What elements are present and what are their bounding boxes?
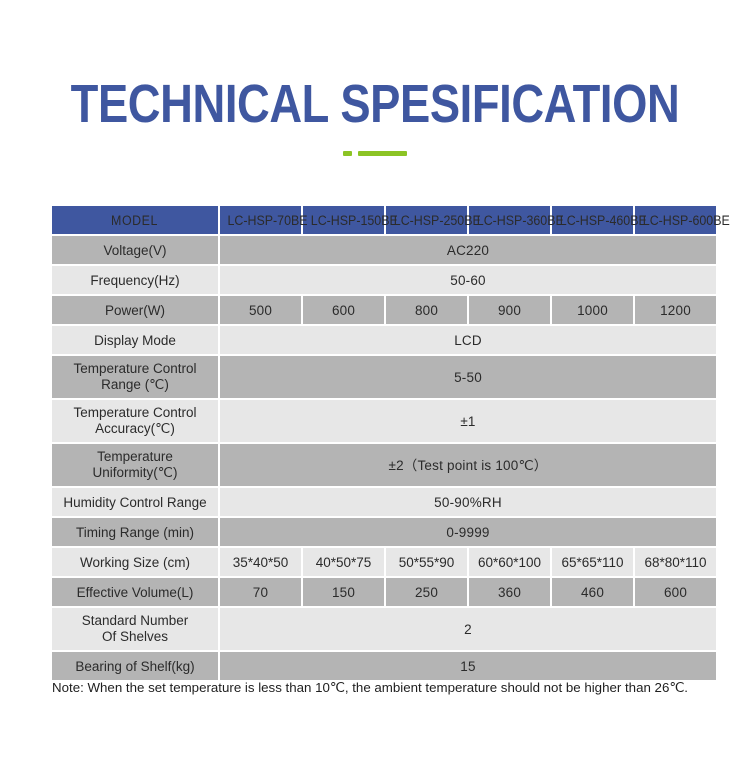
row-label: Humidity Control Range bbox=[52, 488, 218, 516]
row-value: 900 bbox=[469, 296, 550, 324]
table-row: Humidity Control Range 50-90%RH bbox=[52, 488, 716, 516]
row-value: 1200 bbox=[635, 296, 716, 324]
column-header-model-2: LC-HSP-150BE bbox=[303, 206, 384, 234]
table-row: Temperature Uniformity(℃) ±2（Test point … bbox=[52, 444, 716, 486]
row-label-line2: Range (℃) bbox=[56, 377, 214, 393]
row-label: Effective Volume(L) bbox=[52, 578, 218, 606]
row-value: 600 bbox=[303, 296, 384, 324]
title-accent-divider bbox=[0, 150, 750, 156]
row-label: Working Size (cm) bbox=[52, 548, 218, 576]
row-label-line2: Accuracy(℃) bbox=[56, 421, 214, 437]
table-row: Working Size (cm) 35*40*50 40*50*75 50*5… bbox=[52, 548, 716, 576]
row-label-line1: Temperature Control bbox=[56, 405, 214, 421]
row-value: 600 bbox=[635, 578, 716, 606]
column-header-model-5: LC-HSP-460BE bbox=[552, 206, 633, 234]
column-header-model-2-label: LC-HSP-150BE bbox=[311, 213, 398, 228]
row-value-all-models: 5-50 bbox=[220, 356, 716, 398]
row-value: 68*80*110 bbox=[635, 548, 716, 576]
table-row: Standard Number Of Shelves 2 bbox=[52, 608, 716, 650]
row-label: Power(W) bbox=[52, 296, 218, 324]
table-row: Frequency(Hz) 50-60 bbox=[52, 266, 716, 294]
table-footnote: Note: When the set temperature is less t… bbox=[52, 679, 732, 697]
row-value: 460 bbox=[552, 578, 633, 606]
row-value-all-models: 2 bbox=[220, 608, 716, 650]
row-label-line2: Uniformity(℃) bbox=[56, 465, 214, 481]
row-label: Bearing of Shelf(kg) bbox=[52, 652, 218, 680]
accent-bar-icon bbox=[358, 151, 407, 156]
table-header-row: MODEL LC-HSP-70BE LC-HSP-150BE LC-HSP-25… bbox=[52, 206, 716, 234]
column-header-model-6-label: LC-HSP-600BE bbox=[643, 213, 730, 228]
row-label: Standard Number Of Shelves bbox=[52, 608, 218, 650]
title-block: TECHNICAL SPESIFICATION bbox=[0, 0, 750, 156]
table-row: Voltage(V) AC220 bbox=[52, 236, 716, 264]
row-label: Temperature Control Accuracy(℃) bbox=[52, 400, 218, 442]
page-title: TECHNICAL SPESIFICATION bbox=[60, 74, 690, 134]
row-value: 50*55*90 bbox=[386, 548, 467, 576]
row-label-line1: Temperature Control bbox=[56, 361, 214, 377]
table-row: Display Mode LCD bbox=[52, 326, 716, 354]
row-value: 360 bbox=[469, 578, 550, 606]
row-value: 70 bbox=[220, 578, 301, 606]
column-header-model-1-label: LC-HSP-70BE bbox=[227, 213, 307, 228]
row-value-all-models: 50-60 bbox=[220, 266, 716, 294]
column-header-model-4-label: LC-HSP-360BE bbox=[477, 213, 564, 228]
row-value-all-models: ±2（Test point is 100℃） bbox=[220, 444, 716, 486]
row-value: 250 bbox=[386, 578, 467, 606]
row-label: Frequency(Hz) bbox=[52, 266, 218, 294]
row-label: Display Mode bbox=[52, 326, 218, 354]
row-value-all-models: 50-90%RH bbox=[220, 488, 716, 516]
column-header-model-label: MODEL bbox=[112, 213, 159, 228]
row-value: 150 bbox=[303, 578, 384, 606]
table-header: MODEL LC-HSP-70BE LC-HSP-150BE LC-HSP-25… bbox=[52, 206, 716, 234]
row-value: 60*60*100 bbox=[469, 548, 550, 576]
column-header-model-4: LC-HSP-360BE bbox=[469, 206, 550, 234]
row-value-all-models: ±1 bbox=[220, 400, 716, 442]
column-header-model-6: LC-HSP-600BE bbox=[635, 206, 716, 234]
table-row: Bearing of Shelf(kg) 15 bbox=[52, 652, 716, 680]
row-value-all-models: 0-9999 bbox=[220, 518, 716, 546]
accent-dot-icon bbox=[343, 151, 352, 156]
row-label: Temperature Uniformity(℃) bbox=[52, 444, 218, 486]
row-label: Temperature Control Range (℃) bbox=[52, 356, 218, 398]
column-header-model: MODEL bbox=[52, 206, 218, 234]
column-header-model-3: LC-HSP-250BE bbox=[386, 206, 467, 234]
row-label-line1: Standard Number bbox=[56, 613, 214, 629]
table-row: Temperature Control Range (℃) 5-50 bbox=[52, 356, 716, 398]
table-row: Power(W) 500 600 800 900 1000 1200 bbox=[52, 296, 716, 324]
column-header-model-3-label: LC-HSP-250BE bbox=[394, 213, 481, 228]
row-label: Timing Range (min) bbox=[52, 518, 218, 546]
row-value-all-models: 15 bbox=[220, 652, 716, 680]
row-value-all-models: LCD bbox=[220, 326, 716, 354]
table-row: Timing Range (min) 0-9999 bbox=[52, 518, 716, 546]
row-value: 800 bbox=[386, 296, 467, 324]
row-label-line1: Temperature bbox=[56, 449, 214, 465]
specification-table: MODEL LC-HSP-70BE LC-HSP-150BE LC-HSP-25… bbox=[50, 204, 718, 682]
table-body: Voltage(V) AC220 Frequency(Hz) 50-60 Pow… bbox=[52, 236, 716, 680]
specification-table-wrapper: MODEL LC-HSP-70BE LC-HSP-150BE LC-HSP-25… bbox=[52, 206, 706, 680]
row-value-all-models: AC220 bbox=[220, 236, 716, 264]
spec-sheet-page: TECHNICAL SPESIFICATION MODEL LC-HSP-70B… bbox=[0, 0, 750, 780]
row-label-line2: Of Shelves bbox=[56, 629, 214, 645]
row-value: 40*50*75 bbox=[303, 548, 384, 576]
row-value: 65*65*110 bbox=[552, 548, 633, 576]
row-value: 500 bbox=[220, 296, 301, 324]
row-value: 35*40*50 bbox=[220, 548, 301, 576]
table-row: Effective Volume(L) 70 150 250 360 460 6… bbox=[52, 578, 716, 606]
column-header-model-1: LC-HSP-70BE bbox=[220, 206, 301, 234]
column-header-model-5-label: LC-HSP-460BE bbox=[560, 213, 647, 228]
row-label: Voltage(V) bbox=[52, 236, 218, 264]
table-row: Temperature Control Accuracy(℃) ±1 bbox=[52, 400, 716, 442]
row-value: 1000 bbox=[552, 296, 633, 324]
